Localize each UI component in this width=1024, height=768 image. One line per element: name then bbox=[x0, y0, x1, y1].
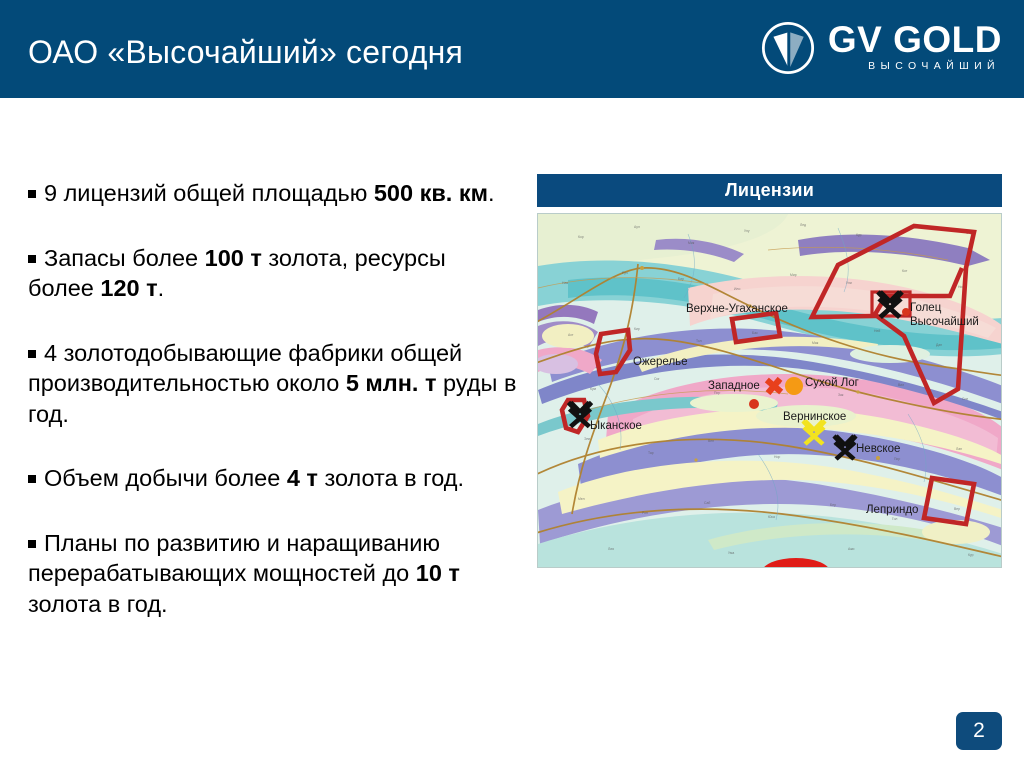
map-panel-header: Лицензии bbox=[537, 174, 1002, 207]
svg-text:Тол: Тол bbox=[696, 339, 702, 343]
svg-text:Ило: Ило bbox=[734, 287, 740, 291]
svg-text:Мик: Мик bbox=[688, 241, 695, 245]
svg-text:Кор: Кор bbox=[578, 235, 584, 239]
bullet-text: Планы по развитию и наращиванию перераба… bbox=[28, 530, 440, 587]
svg-text:Саб: Саб bbox=[704, 501, 710, 505]
svg-text:Ума: Ума bbox=[728, 551, 734, 555]
slide-header: ОАО «Высочайший» сегодня GV GOLD ВЫСОЧАЙ… bbox=[0, 0, 1024, 98]
marker-dot-sukhoy-log bbox=[785, 377, 803, 395]
logo-subtitle: ВЫСОЧАЙШИЙ bbox=[828, 60, 1002, 72]
svg-text:Пор: Пор bbox=[714, 391, 720, 395]
svg-text:Гол: Гол bbox=[892, 517, 897, 521]
logo-wordmark: GV GOLD bbox=[828, 22, 1002, 57]
bullet-marker-icon bbox=[28, 255, 36, 263]
svg-text:Сиг: Сиг bbox=[654, 377, 660, 381]
bullet-marker-icon bbox=[28, 475, 36, 483]
bullet-emphasis: 120 т bbox=[100, 275, 157, 301]
svg-text:Ней: Ней bbox=[874, 329, 880, 333]
svg-text:Руч: Руч bbox=[622, 271, 628, 275]
svg-text:Эли: Эли bbox=[584, 437, 590, 441]
bullet-item: Планы по развитию и наращиванию перераба… bbox=[28, 528, 518, 620]
svg-text:Мак: Мак bbox=[812, 341, 819, 345]
bullet-item: Объем добычи более 4 т золота в год. bbox=[28, 463, 518, 494]
bullet-marker-icon bbox=[28, 190, 36, 198]
brand-logo: GV GOLD ВЫСОЧАЙШИЙ bbox=[760, 20, 1002, 78]
page-title: ОАО «Высочайший» сегодня bbox=[28, 34, 463, 71]
bullet-item: 9 лицензий общей площадью 500 кв. км. bbox=[28, 178, 518, 209]
bullet-text: 9 лицензий общей площадью bbox=[44, 180, 374, 206]
geological-map-graphic: КорАулМик УлуЛедКур ВодСарНая РучБирИло … bbox=[538, 214, 1002, 568]
svg-text:Бер: Бер bbox=[830, 503, 836, 507]
svg-text:Кот: Кот bbox=[902, 269, 908, 273]
svg-text:Сол: Сол bbox=[962, 397, 968, 401]
svg-text:Мел: Мел bbox=[578, 497, 585, 501]
svg-text:Ажи: Ажи bbox=[848, 547, 855, 551]
svg-text:Ули: Ули bbox=[846, 281, 852, 285]
svg-text:Вил: Вил bbox=[898, 383, 904, 387]
svg-text:Рон: Рон bbox=[642, 511, 648, 515]
svg-text:Лан: Лан bbox=[956, 447, 962, 451]
bullet-text: Запасы более bbox=[44, 245, 205, 271]
gv-gold-circle-v-logo-icon bbox=[760, 20, 816, 76]
bullet-text: . bbox=[488, 180, 495, 206]
bullet-emphasis: 500 кв. км bbox=[374, 180, 488, 206]
svg-text:Бир: Бир bbox=[678, 277, 684, 281]
bullet-emphasis: 5 млн. т bbox=[346, 370, 437, 396]
svg-text:Кир: Кир bbox=[634, 327, 640, 331]
svg-text:Ахт: Ахт bbox=[568, 333, 574, 337]
svg-text:Вер: Вер bbox=[954, 507, 960, 511]
svg-text:Нор: Нор bbox=[774, 455, 780, 459]
svg-text:Юка: Юка bbox=[768, 515, 775, 519]
bullet-text: золота в год. bbox=[28, 591, 168, 617]
bullet-item: Запасы более 100 т золота, ресурсы более… bbox=[28, 243, 518, 304]
licenses-map-panel: Лицензии bbox=[537, 174, 1002, 580]
svg-text:Кум: Кум bbox=[590, 387, 597, 391]
marker-dot-red-small bbox=[749, 399, 759, 409]
bullet-text: золота в год. bbox=[318, 465, 464, 491]
svg-text:Лед: Лед bbox=[800, 223, 806, 227]
svg-text:Бас: Бас bbox=[752, 331, 758, 335]
svg-text:Улу: Улу bbox=[744, 229, 750, 233]
svg-text:Кур: Кур bbox=[856, 233, 862, 237]
page-number-badge: 2 bbox=[956, 712, 1002, 750]
bullet-emphasis: 10 т bbox=[416, 560, 460, 586]
map-image-area: КорАулМик УлуЛедКур ВодСарНая РучБирИло … bbox=[537, 213, 1002, 568]
svg-text:Вен: Вен bbox=[708, 439, 714, 443]
bullet-text: . bbox=[158, 275, 165, 301]
bullet-emphasis: 4 т bbox=[287, 465, 318, 491]
bullet-text: Объем добычи более bbox=[44, 465, 287, 491]
svg-text:Тар: Тар bbox=[648, 451, 654, 455]
svg-text:Аул: Аул bbox=[634, 225, 640, 229]
svg-text:Лия: Лия bbox=[608, 547, 614, 551]
svg-text:Пир: Пир bbox=[894, 457, 900, 461]
bullet-marker-icon bbox=[28, 350, 36, 358]
svg-text:Мир: Мир bbox=[790, 273, 797, 277]
bullet-list: 9 лицензий общей площадью 500 кв. км.Зап… bbox=[28, 178, 518, 653]
bullet-item: 4 золотодобывающие фабрики общей произво… bbox=[28, 338, 518, 430]
svg-text:Ная: Ная bbox=[562, 281, 568, 285]
svg-text:Зак: Зак bbox=[838, 393, 844, 397]
bullet-marker-icon bbox=[28, 540, 36, 548]
svg-text:Дан: Дан bbox=[936, 343, 942, 347]
map-panel-title: Лицензии bbox=[725, 180, 814, 201]
svg-text:Кур: Кур bbox=[968, 553, 974, 557]
bullet-emphasis: 100 т bbox=[205, 245, 262, 271]
